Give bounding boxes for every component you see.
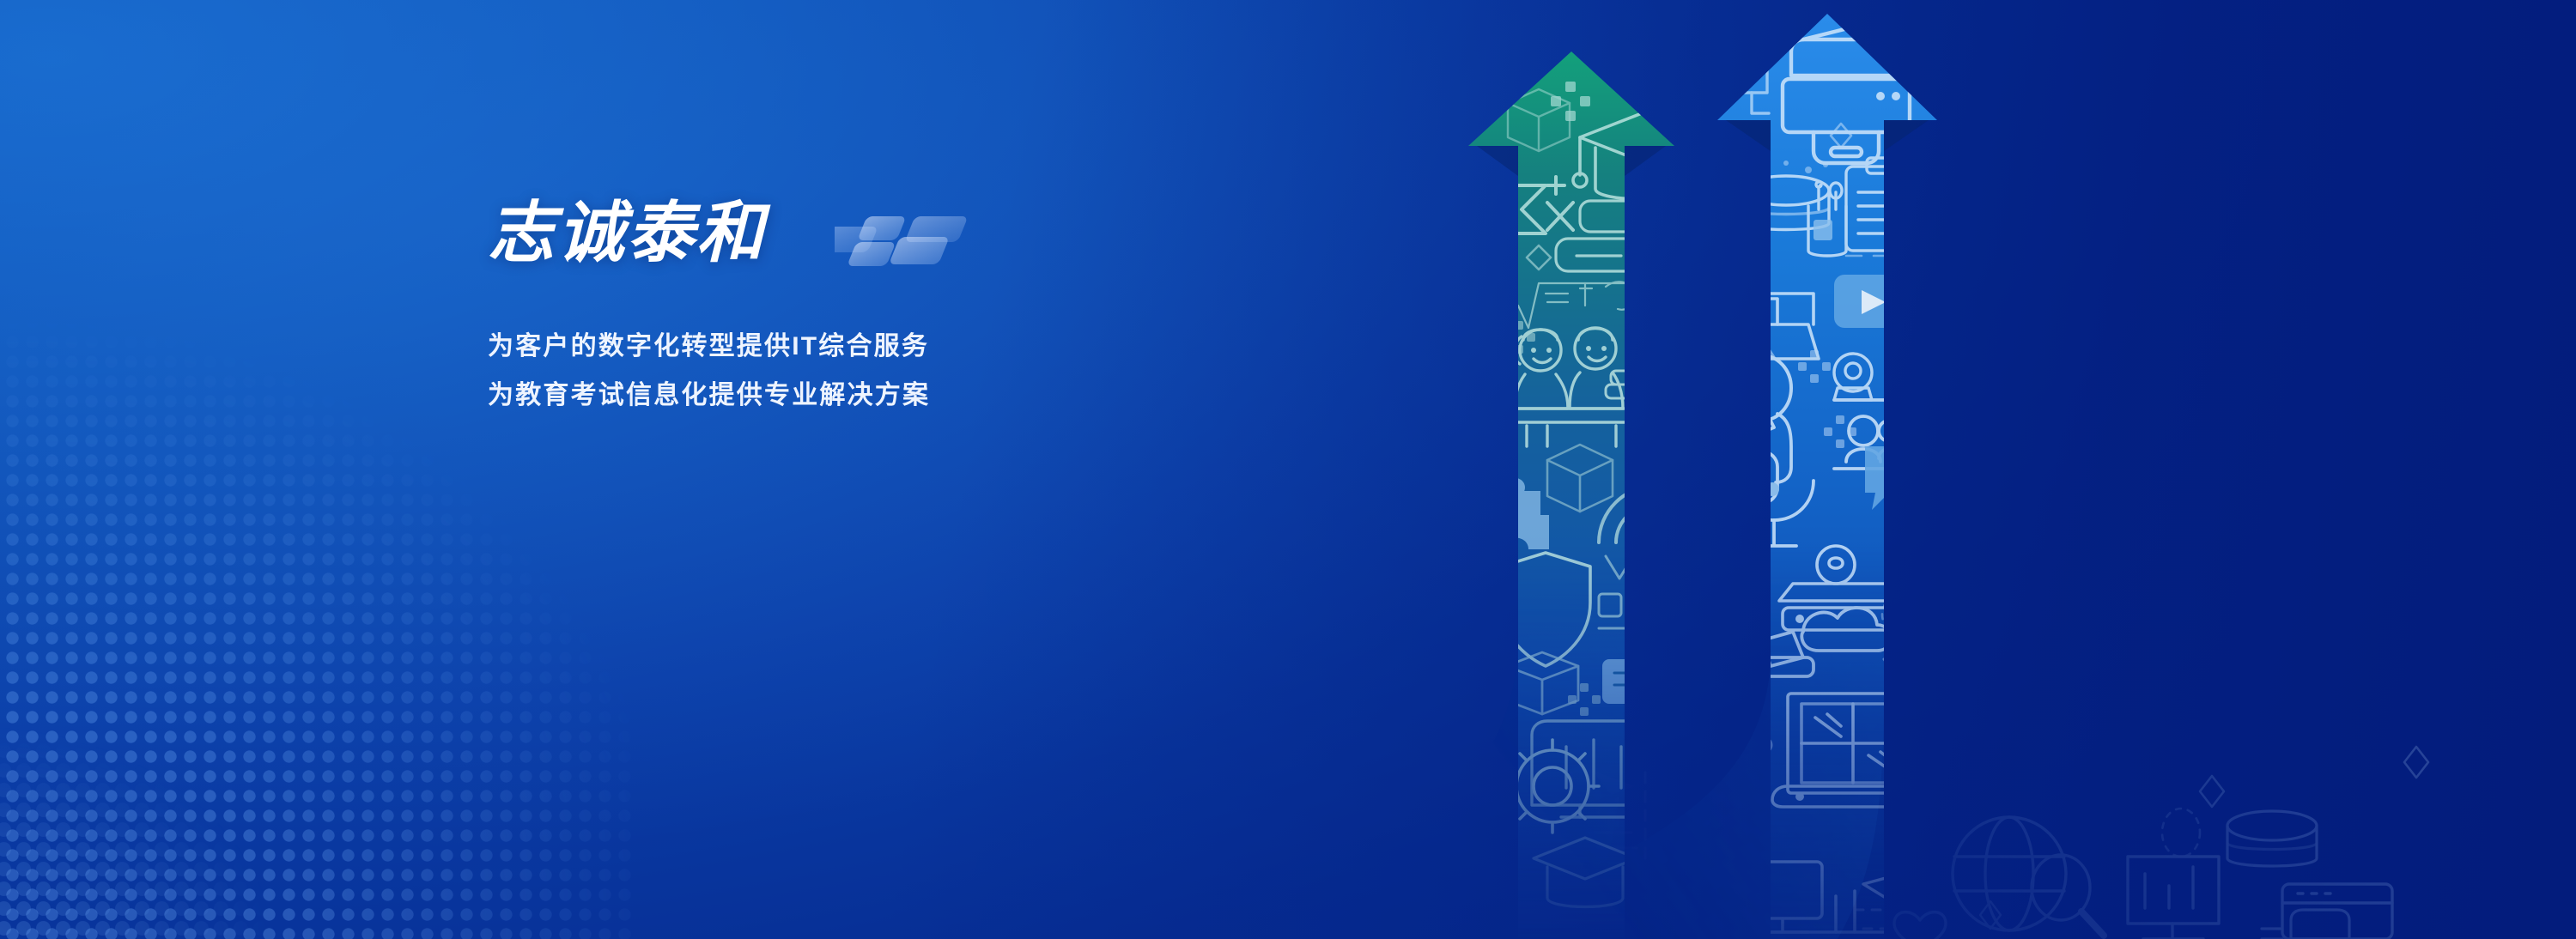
halftone-dot-pattern-dense <box>0 682 335 939</box>
parallelogram-logo-icon <box>835 211 989 271</box>
arrows-artwork: AI <box>1322 0 2576 939</box>
tagline-line-2: 为教育考试信息化提供专业解决方案 <box>488 380 1140 410</box>
brand-row: 志诚泰和 <box>488 199 1140 282</box>
tagline-line-1: 为客户的数字化转型提供IT综合服务 <box>488 331 1140 361</box>
hero-banner: AI <box>0 0 2576 939</box>
page-title: 志诚泰和 <box>488 199 766 266</box>
hero-copy: 志诚泰和 <box>488 199 1140 411</box>
svg-text:AI: AI <box>1889 457 1918 489</box>
